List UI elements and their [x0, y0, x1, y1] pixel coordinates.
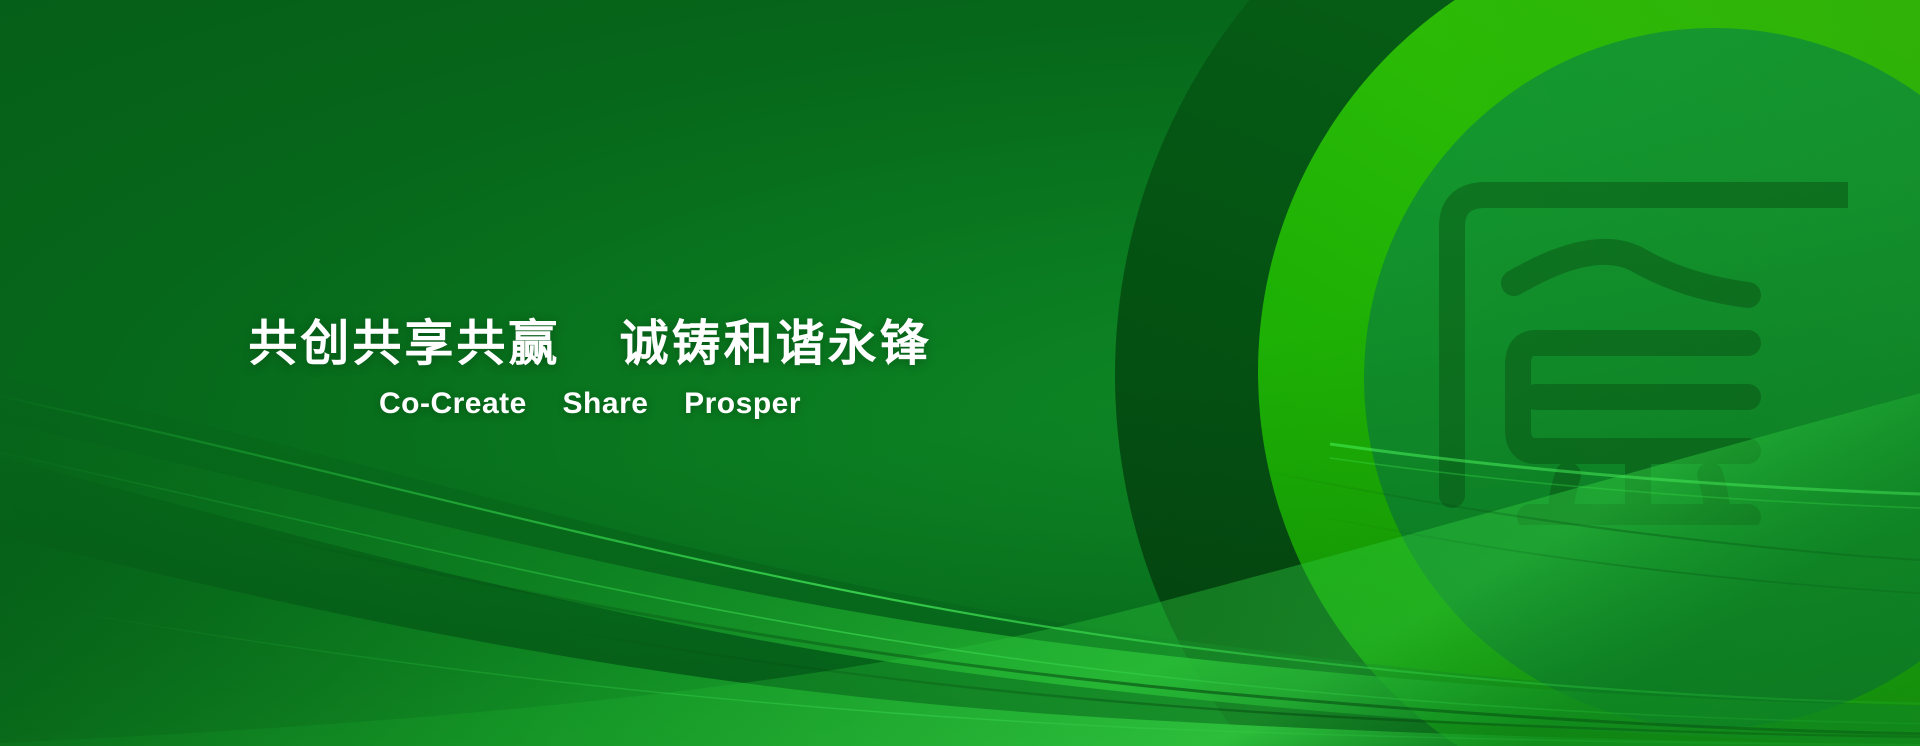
hero-banner: 共创共享共赢 诚铸和谐永锋 Co-Create Share Prosper: [0, 0, 1920, 746]
headline-phrase-one: 共创共享共赢: [248, 317, 560, 371]
subtitle-word-three: Prosper: [684, 387, 801, 420]
hero-subtitle-english: Co-Create Share Prosper: [0, 387, 1180, 421]
hero-headline-chinese: 共创共享共赢 诚铸和谐永锋: [0, 316, 1180, 374]
headline-phrase-two: 诚铸和谐永锋: [620, 317, 932, 371]
hero-text-block: 共创共享共赢 诚铸和谐永锋 Co-Create Share Prosper: [0, 316, 1180, 421]
subtitle-word-two: Share: [563, 387, 649, 420]
subtitle-word-one: Co-Create: [379, 387, 527, 420]
